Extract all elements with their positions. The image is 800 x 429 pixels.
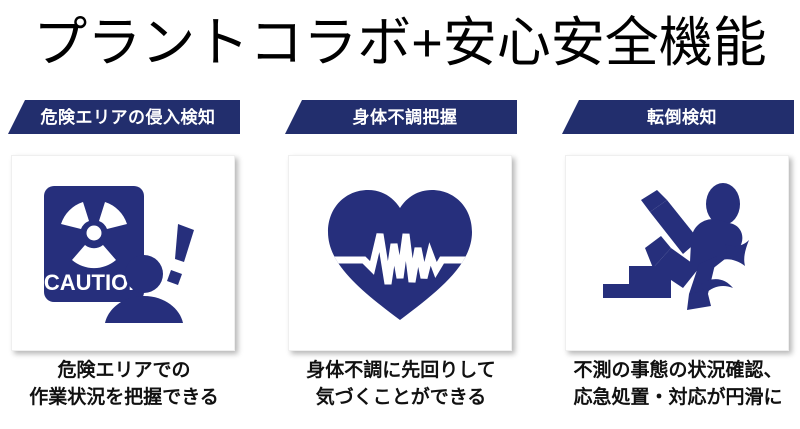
badge-danger-area: 危険エリアの侵入検知 <box>8 100 240 134</box>
caption-line-1: 身体不調に先回りして <box>285 358 517 385</box>
caution-radiation-sign-with-person-icon: CAUTION <box>38 178 208 328</box>
caption-line-2: 気づくことができる <box>285 385 517 412</box>
icon-card-danger-area: CAUTION <box>11 155 235 351</box>
caption-line-2: 作業状況を把握できる <box>8 385 240 412</box>
caption-line-1: 危険エリアでの <box>8 358 240 385</box>
badge-fall-detection: 転倒検知 <box>562 100 794 134</box>
heart-with-heartbeat-icon <box>320 178 480 328</box>
feature-column-fall-detection: 転倒検知 <box>562 100 794 425</box>
badge-label: 危険エリアの侵入検知 <box>33 109 216 126</box>
caption-fall-detection: 不測の事態の状況確認、 応急処置・対応が円滑に <box>562 358 794 412</box>
caption-danger-area: 危険エリアでの 作業状況を把握できる <box>8 358 240 412</box>
caption-line-2: 応急処置・対応が円滑に <box>562 385 794 412</box>
badge-label: 身体不調把握 <box>345 109 458 126</box>
caption-line-1: 不測の事態の状況確認、 <box>562 358 794 385</box>
feature-columns: 危険エリアの侵入検知 CAUTION <box>0 0 800 429</box>
feature-column-danger-area: 危険エリアの侵入検知 CAUTION <box>8 100 240 425</box>
feature-column-health-monitoring: 身体不調把握 身体不調に先回りして 気づくことができる <box>285 100 517 425</box>
person-falling-over-step-icon <box>595 178 760 328</box>
caption-health-monitoring: 身体不調に先回りして 気づくことができる <box>285 358 517 412</box>
icon-card-health-monitoring <box>288 155 512 351</box>
badge-label: 転倒検知 <box>639 109 717 126</box>
badge-health-monitoring: 身体不調把握 <box>285 100 517 134</box>
icon-card-fall-detection <box>565 155 789 351</box>
